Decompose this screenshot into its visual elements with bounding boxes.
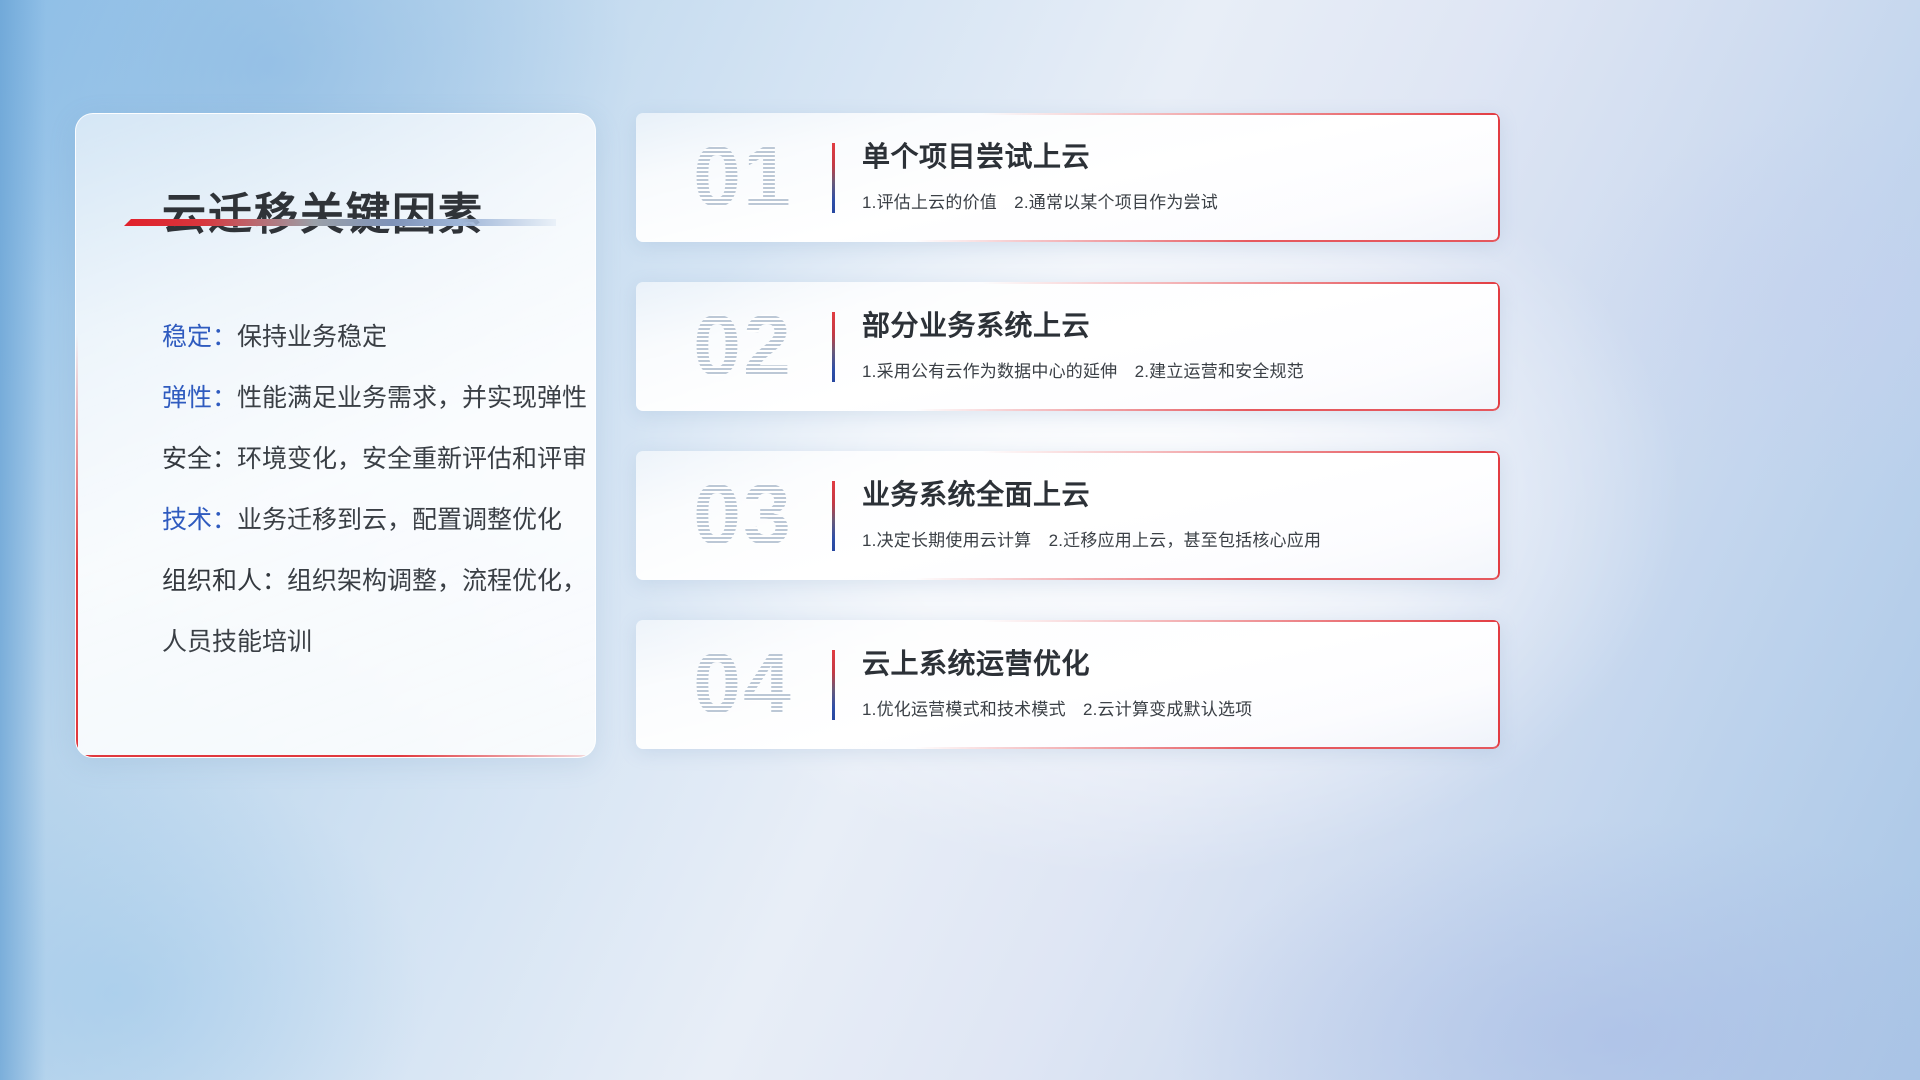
key-factors-list: 稳定：保持业务稳定弹性：性能满足业务需求，并实现弹性安全：环境变化，安全重新评估… (162, 307, 569, 673)
key-factor-label: 安全： (162, 445, 237, 473)
key-factor-item: 组织和人：组织架构调整，流程优化， (162, 551, 569, 612)
stage-card[interactable]: 03业务系统全面上云1.决定长期使用云计算 2.迁移应用上云，甚至包括核心应用 (636, 451, 1500, 580)
key-factor-item: 稳定：保持业务稳定 (162, 307, 569, 368)
stage-number: 03 (670, 465, 816, 565)
cloud-migration-stages-list: 01单个项目尝试上云1.评估上云的价值 2.通常以某个项目作为尝试02部分业务系… (636, 113, 1500, 789)
stage-number-text: 02 (670, 296, 816, 396)
stage-divider-bar (832, 312, 835, 382)
key-factor-label: 弹性： (162, 384, 237, 412)
stage-description: 1.决定长期使用云计算 2.迁移应用上云，甚至包括核心应用 (862, 526, 1470, 551)
stage-card-body: 单个项目尝试上云1.评估上云的价值 2.通常以某个项目作为尝试 (862, 135, 1470, 213)
key-factor-item: 安全：环境变化，安全重新评估和评审 (162, 429, 569, 490)
stage-title: 部分业务系统上云 (862, 304, 1470, 344)
key-factor-item: 人员技能培训 (162, 612, 569, 673)
key-factor-item: 弹性：性能满足业务需求，并实现弹性 (162, 368, 569, 429)
stage-number-text: 03 (670, 465, 816, 565)
stage-description: 1.评估上云的价值 2.通常以某个项目作为尝试 (862, 188, 1470, 213)
stage-divider-bar (832, 481, 835, 551)
stage-card-body: 部分业务系统上云1.采用公有云作为数据中心的延伸 2.建立运营和安全规范 (862, 304, 1470, 382)
key-factor-value: 保持业务稳定 (237, 323, 387, 351)
key-factor-value: 组织架构调整，流程优化， (287, 567, 587, 595)
stage-description: 1.优化运营模式和技术模式 2.云计算变成默认选项 (862, 695, 1470, 720)
page-title: 云迁移关键因素 (162, 178, 484, 242)
stage-number-text: 04 (670, 634, 816, 734)
key-factor-value: 业务迁移到云，配置调整优化 (237, 506, 562, 534)
key-factor-value: 环境变化，安全重新评估和评审 (237, 445, 587, 473)
stage-divider-bar (832, 650, 835, 720)
stage-card-body: 业务系统全面上云1.决定长期使用云计算 2.迁移应用上云，甚至包括核心应用 (862, 473, 1470, 551)
background-left-edge-band (0, 0, 46, 1080)
stage-description: 1.采用公有云作为数据中心的延伸 2.建立运营和安全规范 (862, 357, 1470, 382)
key-factors-panel: 云迁移关键因素 稳定：保持业务稳定弹性：性能满足业务需求，并实现弹性安全：环境变… (75, 113, 596, 758)
stage-number: 01 (670, 127, 816, 227)
card-top-accent-line (636, 620, 1500, 622)
card-top-accent-line (636, 282, 1500, 284)
card-top-accent-line (636, 113, 1500, 115)
stage-number-text: 01 (670, 127, 816, 227)
stage-divider-bar (832, 143, 835, 213)
stage-title: 云上系统运营优化 (862, 642, 1470, 682)
key-factor-label: 组织和人： (162, 567, 287, 595)
key-factor-label: 技术： (162, 506, 237, 534)
stage-card[interactable]: 02部分业务系统上云1.采用公有云作为数据中心的延伸 2.建立运营和安全规范 (636, 282, 1500, 411)
stage-card[interactable]: 04云上系统运营优化1.优化运营模式和技术模式 2.云计算变成默认选项 (636, 620, 1500, 749)
title-underline-rule (124, 219, 556, 226)
card-top-accent-line (636, 451, 1500, 453)
stage-card[interactable]: 01单个项目尝试上云1.评估上云的价值 2.通常以某个项目作为尝试 (636, 113, 1500, 242)
stage-number: 02 (670, 296, 816, 396)
key-factor-value: 性能满足业务需求，并实现弹性 (237, 384, 587, 412)
key-factor-item: 技术：业务迁移到云，配置调整优化 (162, 490, 569, 551)
stage-number: 04 (670, 634, 816, 734)
stage-card-body: 云上系统运营优化1.优化运营模式和技术模式 2.云计算变成默认选项 (862, 642, 1470, 720)
key-factor-value: 人员技能培训 (162, 628, 312, 656)
key-factor-label: 稳定： (162, 323, 237, 351)
stage-title: 单个项目尝试上云 (862, 135, 1470, 175)
stage-title: 业务系统全面上云 (862, 473, 1470, 513)
